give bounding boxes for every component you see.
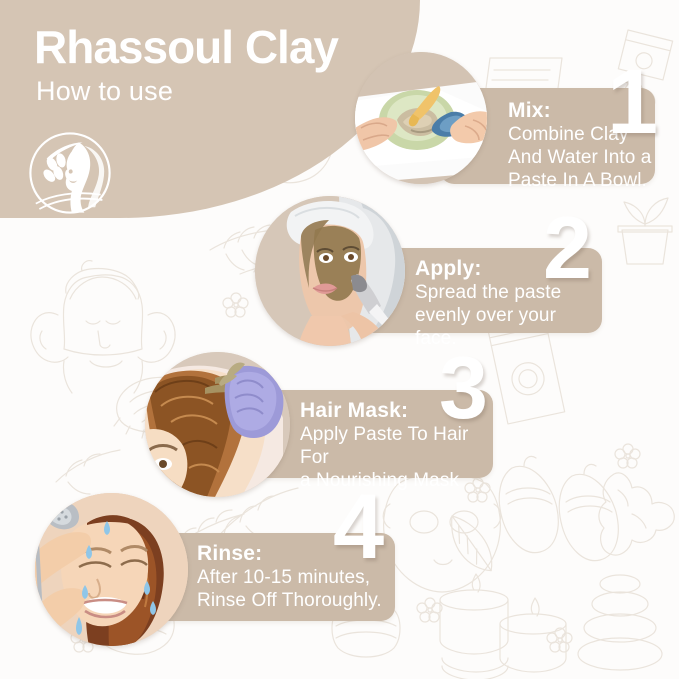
step-1-image xyxy=(355,52,487,184)
step-3-body: Apply Paste To Hair For a Nourishing Mas… xyxy=(300,423,493,492)
step-3-heading: Hair Mask: xyxy=(300,398,493,423)
mixing-clay-in-bowl-illustration xyxy=(355,52,487,184)
step-3-image xyxy=(145,352,290,497)
page-title: Rhassoul Clay Rhassoul Clay xyxy=(34,18,674,78)
rinsing-in-shower-illustration xyxy=(35,493,188,646)
step-2-heading: Apply: xyxy=(415,256,602,281)
infographic-poster: Rhassoul Clay Rhassoul Clay How to use M… xyxy=(0,0,679,679)
step-4-image xyxy=(35,493,188,646)
woman-profile-botanical-logo xyxy=(25,128,115,218)
applying-hair-mask-illustration xyxy=(145,352,290,497)
step-1-heading: Mix: xyxy=(508,98,655,123)
step-2-image xyxy=(255,196,405,346)
step-4-body: After 10-15 minutes, Rinse Off Thoroughl… xyxy=(197,566,395,612)
step-4-heading: Rinse: xyxy=(197,541,395,566)
page-title-white-layer: Rhassoul Clay xyxy=(34,18,338,76)
page-subtitle: How to use xyxy=(36,76,173,107)
step-2-body: Spread the paste evenly over your face. xyxy=(415,281,602,350)
applying-face-mask-illustration xyxy=(255,196,405,346)
step-1-body: Combine Clay And Water Into a Paste In A… xyxy=(508,123,655,192)
